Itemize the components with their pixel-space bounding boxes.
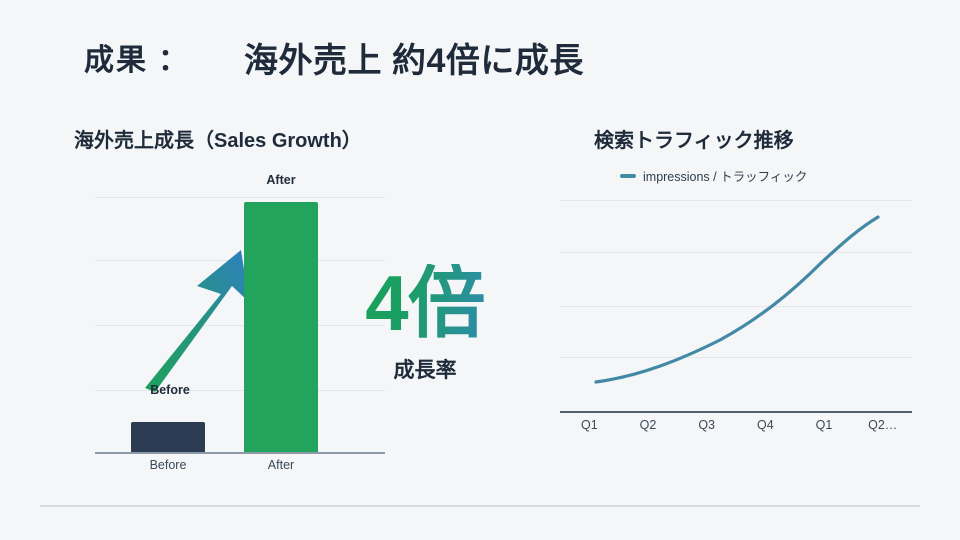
bar-chart-axis (95, 452, 385, 454)
header-label: 成果 (84, 35, 148, 79)
line-tick-0: Q1 (560, 418, 619, 432)
search-traffic-line-chart: Q1 Q2 Q3 Q4 Q1 Q2… ニッチなキーワードのインプレッションが大幅… (560, 200, 912, 450)
bar-tick-after: After (244, 458, 318, 472)
sales-growth-title: 海外売上成長（Sales Growth） (74, 124, 362, 153)
line-chart-axis (560, 411, 912, 413)
bar-value-label-before: Before (133, 383, 207, 397)
line-tick-2: Q3 (677, 418, 736, 432)
search-traffic-legend: impressions / トラッフィック (620, 166, 807, 185)
line-tick-1: Q2 (619, 418, 678, 432)
growth-multiplier-value: 4倍 (345, 264, 505, 342)
growth-rate-label: 成長率 (345, 354, 505, 384)
bar-value-label-after: After (244, 173, 318, 187)
bar-plot-area (95, 190, 385, 452)
line-plot-area (560, 200, 912, 411)
impressions-trend-line[interactable] (560, 200, 912, 411)
slide-canvas: 成果 ： 海外売上 約4倍に成長 海外売上成長（Sales Growth） (0, 0, 960, 540)
header-colon: ： (158, 35, 188, 79)
sales-growth-bar-chart: Before After Before After (95, 190, 385, 480)
slide-header: 成果 ： 海外売上 約4倍に成長 (84, 28, 884, 86)
bar-gridline (95, 260, 385, 261)
footer-divider (40, 505, 920, 507)
growth-arrow-icon (137, 242, 257, 392)
line-tick-3: Q4 (736, 418, 795, 432)
bar-gridline (95, 197, 385, 198)
line-tick-4: Q1 (795, 418, 854, 432)
legend-swatch-impressions (620, 174, 636, 178)
bar-tick-before: Before (131, 458, 205, 472)
sales-growth-panel: 海外売上成長（Sales Growth） (70, 124, 500, 484)
search-traffic-title: 検索トラフィック推移 (594, 124, 794, 153)
bar-before[interactable] (131, 422, 205, 452)
growth-callout: 4倍 成長率 (345, 264, 505, 384)
bar-gridline (95, 325, 385, 326)
search-traffic-panel: 検索トラフィック推移 impressions / トラッフィック Q1 Q2 Q… (520, 124, 930, 494)
bar-after[interactable] (244, 202, 318, 452)
legend-label-impressions: impressions / トラッフィック (643, 166, 807, 185)
line-tick-5: Q2… (853, 418, 912, 432)
page-title: 海外売上 約4倍に成長 (244, 33, 584, 82)
line-chart-x-ticks: Q1 Q2 Q3 Q4 Q1 Q2… (560, 418, 912, 432)
